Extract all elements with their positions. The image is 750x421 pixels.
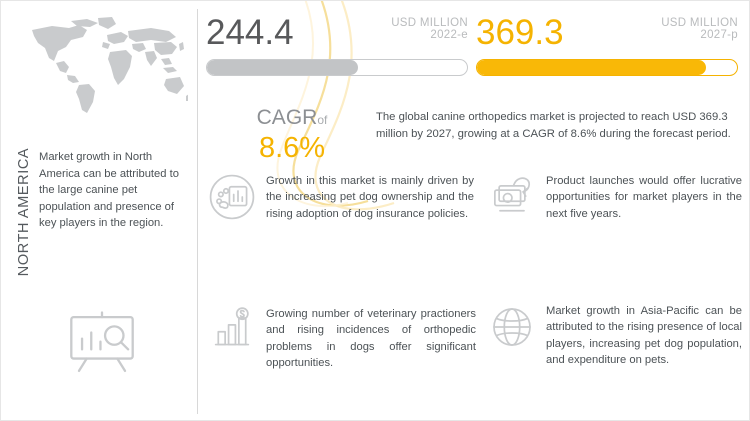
stat-forecast-year-unit-line2: 2027-p [661, 29, 738, 41]
stat-forecast-year-value: 369.3 [476, 13, 564, 53]
stat-base-year-unit-line1: USD MILLION [391, 17, 468, 29]
stat-base-year-unit: USD MILLION 2022-e [391, 13, 468, 41]
left-panel-description: Market growth in North America can be at… [39, 149, 189, 232]
stat-base-year-value: 244.4 [206, 13, 294, 53]
feature-text: Growth in this market is mainly driven b… [266, 173, 474, 222]
feature-item: Market growth in Asia-Pacific can be att… [488, 303, 746, 369]
feature-text: Market growth in Asia-Pacific can be att… [546, 303, 742, 369]
cagr-title-suffix: of [317, 113, 327, 127]
stat-forecast-year-unit: USD MILLION 2027-p [661, 13, 738, 41]
region-vertical-label-text: NORTH AMERICA [16, 147, 32, 275]
cagr-block: CAGRof 8.6% [222, 106, 362, 165]
money-launch-icon [488, 173, 536, 221]
left-panel: NORTH AMERICA [1, 1, 197, 421]
bar-chart-dollar-icon [208, 306, 256, 354]
presentation-chart-search-icon [63, 311, 141, 377]
right-panel: 244.4 USD MILLION 2022-e 369.3 USD MILLI… [198, 1, 750, 421]
world-map-icon [23, 15, 188, 120]
cagr-title: CAGRof [222, 106, 362, 130]
summary-paragraph: The global canine orthopedics market is … [376, 109, 731, 142]
feature-text: Product launches would offer lucrative o… [546, 173, 742, 222]
stat-base-year-bar-fill [207, 60, 358, 75]
cagr-title-text: CAGR [257, 106, 318, 129]
stat-forecast-year-bar-fill [477, 60, 706, 75]
feature-item: Product launches would offer lucrative o… [488, 173, 746, 222]
feature-item: Growing number of veterinary practioners… [208, 306, 480, 372]
stat-forecast-year-bar [476, 59, 738, 76]
infographic-root: NORTH AMERICA [0, 0, 750, 421]
stat-base-year-unit-line2: 2022-e [391, 29, 468, 41]
feature-item: Growth in this market is mainly driven b… [208, 173, 478, 222]
stat-forecast-year: 369.3 USD MILLION 2027-p [476, 13, 738, 76]
stat-base-year: 244.4 USD MILLION 2022-e [206, 13, 468, 76]
feature-text: Growing number of veterinary practioners… [266, 306, 476, 372]
dog-paw-chart-icon [208, 173, 256, 221]
stat-base-year-bar [206, 59, 468, 76]
stat-forecast-year-unit-line1: USD MILLION [661, 17, 738, 29]
globe-asia-icon [488, 303, 536, 351]
cagr-value: 8.6% [222, 131, 362, 165]
